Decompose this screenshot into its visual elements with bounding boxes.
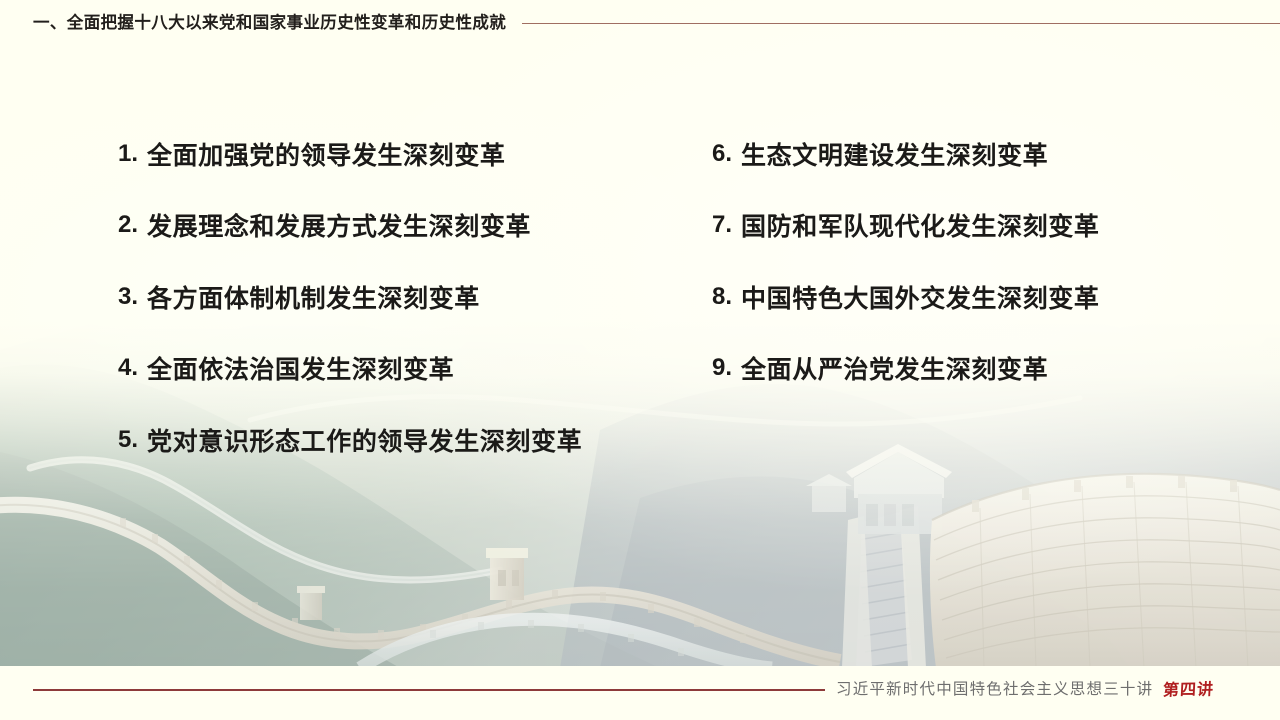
- slide-header: 一、全面把握十八大以来党和国家事业历史性变革和历史性成就: [0, 0, 1280, 46]
- list-item-number: 5.: [118, 426, 138, 454]
- list-item-label: 党对意识形态工作的领导发生深刻变革: [147, 422, 582, 458]
- list-item-number: 6.: [712, 140, 732, 168]
- list-item-number: 4.: [118, 354, 138, 382]
- list-item-label: 生态文明建设发生深刻变革: [741, 136, 1048, 172]
- footer-chapter-badge: 第四讲: [1163, 681, 1215, 698]
- list-item[interactable]: 9. 全面从严治党发生深刻变革: [712, 333, 1099, 405]
- list-item-number: 8.: [712, 283, 732, 311]
- list-item[interactable]: 6. 生态文明建设发生深刻变革: [712, 118, 1099, 190]
- footer-series-title: 习近平新时代中国特色社会主义思想三十讲: [836, 682, 1153, 698]
- list-item-number: 9.: [712, 354, 732, 382]
- footer-divider-rule: [33, 689, 825, 691]
- list-item[interactable]: 4. 全面依法治国发生深刻变革: [118, 333, 582, 405]
- list-item-label: 全面依法治国发生深刻变革: [147, 350, 454, 386]
- list-item-number: 7.: [712, 211, 732, 239]
- list-item-label: 全面从严治党发生深刻变革: [741, 350, 1048, 386]
- right-column: 6. 生态文明建设发生深刻变革 7. 国防和军队现代化发生深刻变革 8. 中国特…: [712, 118, 1099, 404]
- list-item-label: 发展理念和发展方式发生深刻变革: [147, 207, 531, 243]
- list-item[interactable]: 1. 全面加强党的领导发生深刻变革: [118, 118, 582, 190]
- list-item-number: 3.: [118, 283, 138, 311]
- list-item[interactable]: 8. 中国特色大国外交发生深刻变革: [712, 261, 1099, 333]
- left-column: 1. 全面加强党的领导发生深刻变革 2. 发展理念和发展方式发生深刻变革 3. …: [118, 118, 582, 476]
- page-title: 一、全面把握十八大以来党和国家事业历史性变革和历史性成就: [33, 15, 506, 32]
- list-item-label: 国防和军队现代化发生深刻变革: [741, 207, 1099, 243]
- list-item[interactable]: 5. 党对意识形态工作的领导发生深刻变革: [118, 404, 582, 476]
- list-item-label: 全面加强党的领导发生深刻变革: [147, 136, 505, 172]
- list-item[interactable]: 7. 国防和军队现代化发生深刻变革: [712, 190, 1099, 262]
- list-item-number: 1.: [118, 140, 138, 168]
- list-item-number: 2.: [118, 211, 138, 239]
- list-item[interactable]: 2. 发展理念和发展方式发生深刻变革: [118, 190, 582, 262]
- list-item-label: 各方面体制机制发生深刻变革: [147, 279, 480, 315]
- slide-root: 一、全面把握十八大以来党和国家事业历史性变革和历史性成就 1. 全面加强党的领导…: [0, 0, 1280, 720]
- list-item[interactable]: 3. 各方面体制机制发生深刻变革: [118, 261, 582, 333]
- slide-footer: 习近平新时代中国特色社会主义思想三十讲 第四讲: [0, 676, 1280, 704]
- header-divider-rule: [522, 23, 1280, 24]
- list-item-label: 中国特色大国外交发生深刻变革: [741, 279, 1099, 315]
